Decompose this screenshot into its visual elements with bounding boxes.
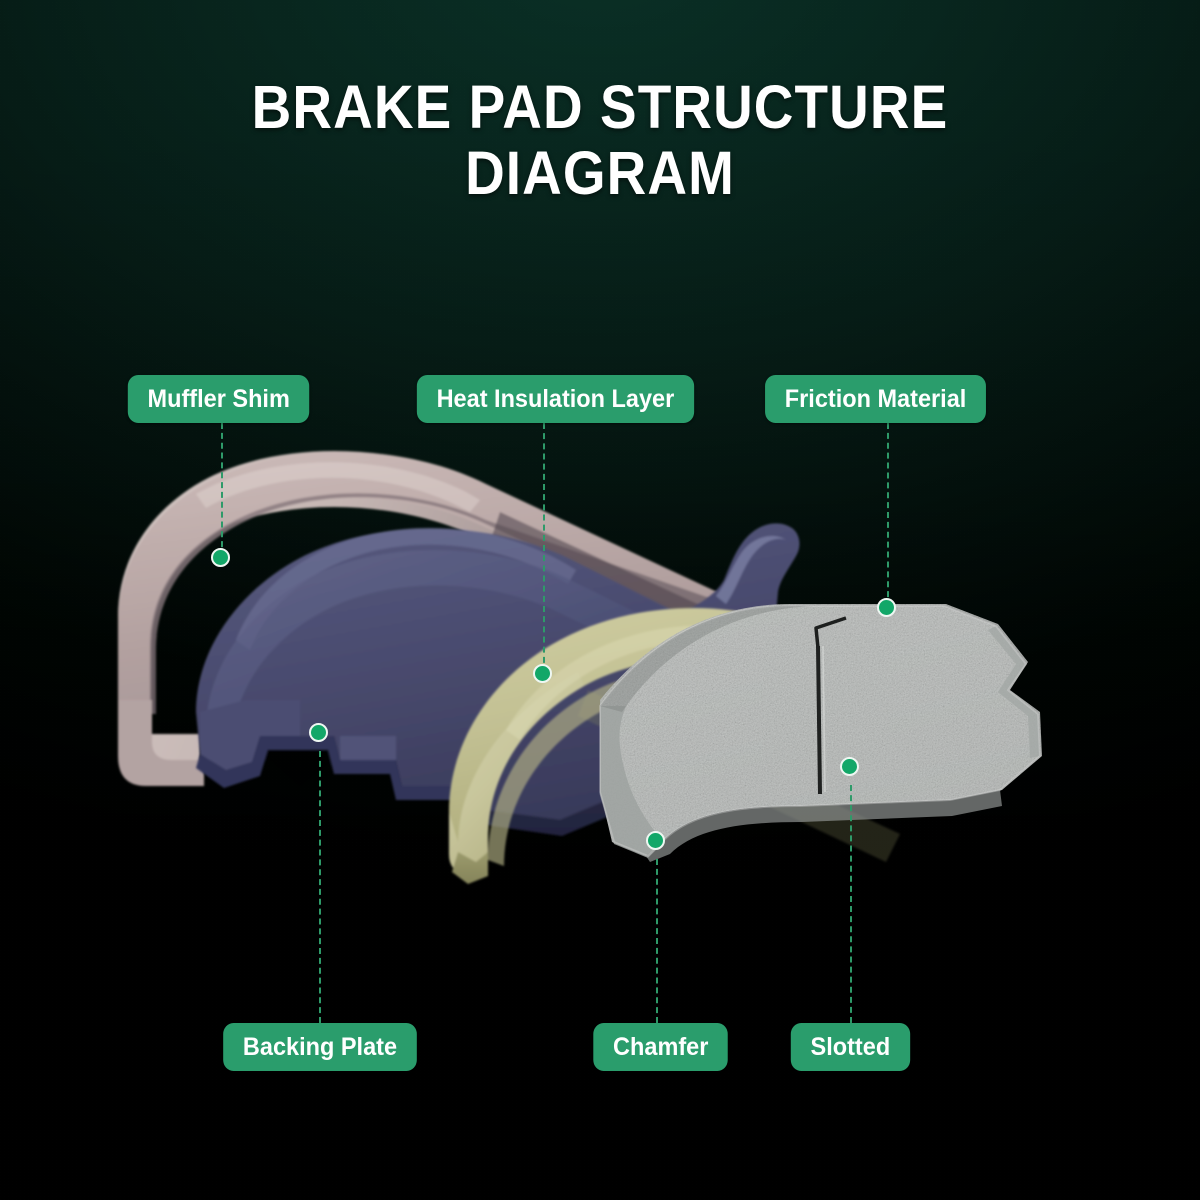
marker-dot-heat-insulation-layer[interactable] [533,664,552,683]
leader-line-friction-material [887,423,889,607]
leader-line-muffler-shim [221,423,223,557]
leader-line-backing-plate [319,751,321,1023]
callout-label-friction-material[interactable]: Friction Material [765,375,986,423]
marker-dot-chamfer[interactable] [646,831,665,850]
marker-dot-slotted[interactable] [840,757,859,776]
leader-line-slotted [850,785,852,1023]
callout-label-chamfer[interactable]: Chamfer [593,1023,728,1071]
diagram-canvas: BRAKE PAD STRUCTURE DIAGRAM [0,0,1200,1200]
brake-pad-artwork [0,0,1200,1200]
marker-dot-friction-material[interactable] [877,598,896,617]
leader-line-heat-insulation-layer [543,423,545,673]
callout-label-muffler-shim[interactable]: Muffler Shim [128,375,310,423]
marker-dot-muffler-shim[interactable] [211,548,230,567]
marker-dot-backing-plate[interactable] [309,723,328,742]
callout-label-slotted[interactable]: Slotted [791,1023,910,1071]
callout-label-heat-insulation-layer[interactable]: Heat Insulation Layer [417,375,694,423]
callout-label-backing-plate[interactable]: Backing Plate [223,1023,417,1071]
leader-line-chamfer [656,859,658,1023]
